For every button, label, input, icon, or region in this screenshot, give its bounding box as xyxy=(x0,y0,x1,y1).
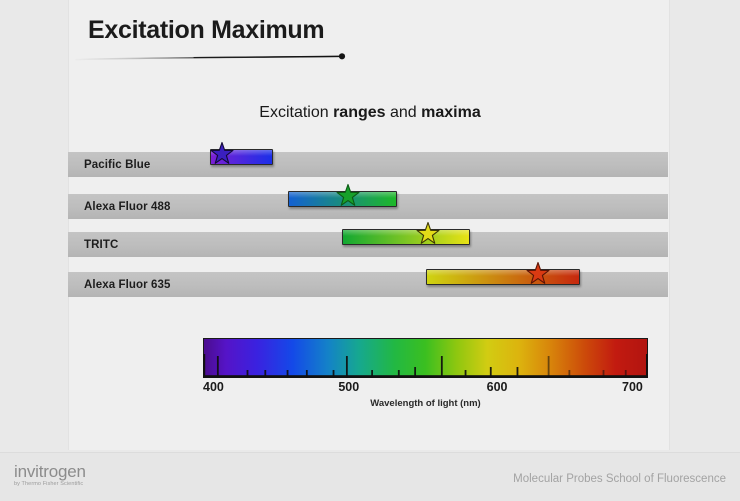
brand-logo: invitrogen by Thermo Fisher Scientific xyxy=(14,463,86,487)
spectrum-scale xyxy=(203,338,648,378)
subtitle-word-ranges: ranges xyxy=(333,104,385,121)
excitation-range-bar xyxy=(342,229,470,245)
subtitle-word-and: and xyxy=(386,104,422,121)
excitation-range-bar xyxy=(288,191,398,207)
emission-tick xyxy=(548,356,550,378)
emission-tick xyxy=(217,356,219,378)
spectrum-emission-ticks xyxy=(203,338,648,378)
spectrum-axis-ticks: 400500600700 xyxy=(203,380,648,396)
subtitle-word-maxima: maxima xyxy=(421,104,481,121)
axis-tick-label-600: 600 xyxy=(487,380,508,394)
excitation-range-bar xyxy=(426,269,580,285)
dye-label-tritc: TRITC xyxy=(84,239,118,251)
dye-label-pacific-blue: Pacific Blue xyxy=(84,159,150,171)
slide-footer: invitrogen by Thermo Fisher Scientific M… xyxy=(0,452,740,501)
slide-canvas: Excitation Maximum Excitation ranges and… xyxy=(0,0,740,500)
axis-tick-label-700: 700 xyxy=(622,380,643,394)
axis-title: Wavelength of light (nm) xyxy=(203,398,648,409)
brand-tagline: by Thermo Fisher Scientific xyxy=(14,481,86,487)
emission-tick xyxy=(346,356,348,378)
dye-row-pacific-blue: Pacific Blue xyxy=(68,152,668,177)
excitation-range-bar xyxy=(210,149,272,165)
axis-tick-label-500: 500 xyxy=(338,380,359,394)
emission-tick xyxy=(441,356,443,378)
page-title: Excitation Maximum xyxy=(88,16,324,45)
dye-label-alexa-fluor-635: Alexa Fluor 635 xyxy=(84,279,171,291)
axis-tick-label-400: 400 xyxy=(203,380,224,394)
dye-label-alexa-fluor-488: Alexa Fluor 488 xyxy=(84,201,171,213)
underline-stroke-icon xyxy=(74,50,349,64)
subtitle-word-excitation: Excitation xyxy=(259,104,333,121)
brand-name: invitrogen xyxy=(14,463,86,480)
footer-course-name: Molecular Probes School of Fluorescence xyxy=(513,473,726,485)
chart-subtitle: Excitation ranges and maxima xyxy=(0,104,740,122)
